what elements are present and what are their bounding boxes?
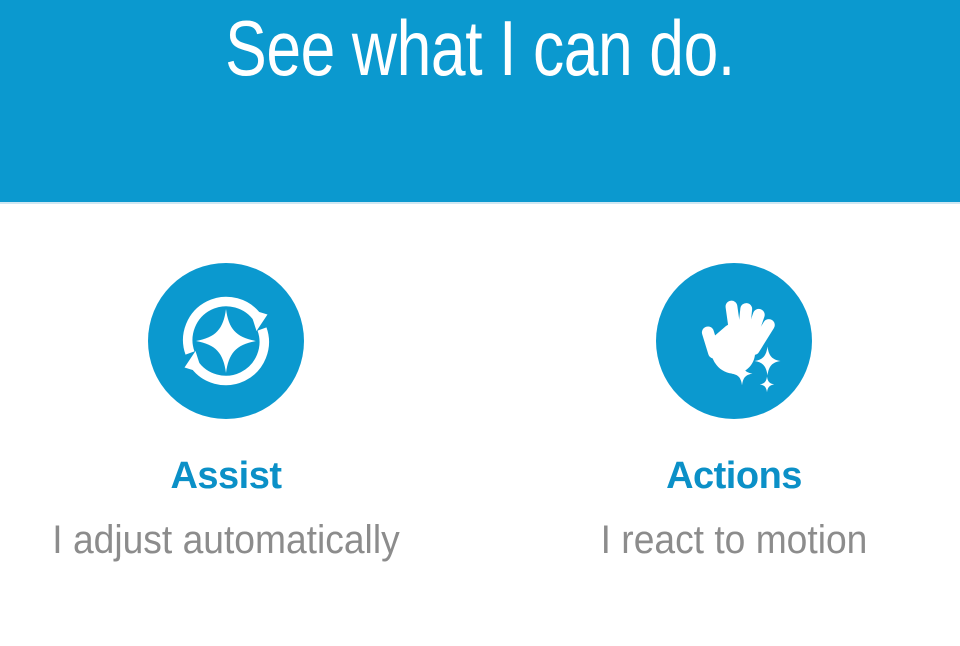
feature-title-actions: Actions <box>666 455 802 497</box>
feature-card-actions[interactable]: Actions I react to motion <box>480 204 960 569</box>
feature-description-actions: I react to motion <box>539 512 930 569</box>
feature-list: Assist I adjust automatically <box>0 204 960 646</box>
header-band: See what I can do. <box>0 0 960 202</box>
feature-card-assist[interactable]: Assist I adjust automatically <box>0 204 480 569</box>
page-title: See what I can do. <box>96 2 864 94</box>
auto-adjust-sync-sparkle-icon <box>148 263 304 419</box>
feature-title-assist: Assist <box>170 455 281 497</box>
waving-hand-sparkle-icon <box>656 263 812 419</box>
app-screen: See what I can do. <box>0 0 960 646</box>
feature-description-assist: I adjust automatically <box>31 512 422 569</box>
